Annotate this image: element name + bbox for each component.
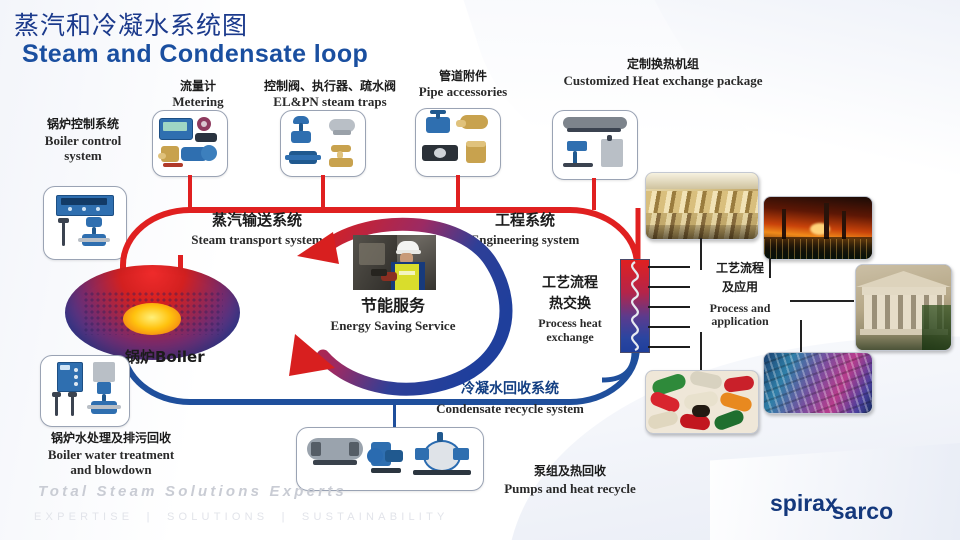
equipment-pictogram-metering [153,111,227,176]
equipment-pictogram-boiler-control [44,187,126,259]
connector-metering-to-loop [188,175,192,208]
photo-institution [855,264,952,351]
label-process-heat-exchange: 工艺流程 热交换 Process heat exchange [520,276,620,344]
label-pumps: 泵组及热回收 Pumps and heat recycle [490,465,650,497]
photo-brewery-cans [645,172,759,240]
equipment-box-pumps[interactable] [296,427,484,491]
equipment-box-metering[interactable] [152,110,228,177]
connector-hx-package-to-loop [592,178,596,210]
equipment-box-heat-exchange-package[interactable] [552,110,638,180]
label-steam-traps: 控制阀、执行器、疏水阀 EL&PN steam traps [250,80,410,110]
label-boiler-text: 锅炉Boiler [125,349,235,366]
connector-to-refinery [769,258,771,278]
connector-to-brewery [700,238,702,270]
spirax-sarco-logo[interactable]: spiraxsarco [770,490,893,517]
label-process-heat-cn-1: 工艺流程 [520,276,620,292]
page-title-english: Steam and Condensate loop [22,40,368,69]
photo-refinery-sunset [763,196,873,260]
logo-text-sarco: sarco [832,498,893,525]
boiler-flame [123,303,181,335]
footer-pillar-expertise: EXPERTISE [34,511,133,523]
equipment-pictogram-steam-traps [281,111,365,176]
footer-pillar-separator-1: | [141,511,160,523]
boiler-vessel [65,265,240,360]
footer-pillar-separator-2: | [276,511,295,523]
label-water-treat-en-2: and blowdown [16,463,206,478]
page-title-chinese: 蒸汽和冷凝水系统图 [14,6,248,42]
logo-text-spirax: spirax [770,490,838,516]
heat-exchanger-coil [621,260,649,352]
equipment-pictogram-hx-package [553,111,637,179]
label-boiler-control-en-1: Boiler control [18,134,148,149]
label-hx-pkg-cn: 定制换热机组 [543,58,783,71]
photo-engineer [353,235,436,290]
label-process-app-en-2: application [690,315,790,328]
label-water-treatment: 锅炉水处理及排污回收 Boiler water treatment and bl… [16,432,206,478]
label-hx-pkg-en: Customized Heat exchange package [543,74,783,89]
label-heat-exchange-package: 定制换热机组 Customized Heat exchange package [543,58,783,89]
label-process-app-cn-2: 及应用 [690,281,790,294]
equipment-box-boiler-control[interactable] [43,186,127,260]
label-process-app-cn-1: 工艺流程 [690,262,790,275]
label-water-treat-cn: 锅炉水处理及排污回收 [16,432,206,445]
connector-to-textiles [800,320,802,352]
equipment-box-water-treatment[interactable] [40,355,130,427]
label-process-heat-en-1: Process heat [520,317,620,330]
label-pipe-accessories: 管道附件 Pipe accessories [398,70,528,100]
label-boiler-control-en-2: system [18,149,148,164]
connector-to-pharma [700,332,702,370]
label-process-application: 工艺流程 及应用 Process and application [690,262,790,329]
heat-exchanger [620,259,650,353]
footer-pillars: EXPERTISE | SOLUTIONS | SUSTAINABILITY [34,511,449,523]
equipment-pictogram-pumps [297,428,483,490]
slide-canvas: 蒸汽和冷凝水系统图 Steam and Condensate loop 锅炉控制… [0,0,960,540]
label-pipe-en: Pipe accessories [398,85,528,100]
equipment-pictogram-pipe-accessories [416,109,500,176]
equipment-box-pipe-accessories[interactable] [415,108,501,177]
label-boiler-control-cn: 锅炉控制系统 [18,118,148,131]
label-pipe-cn: 管道附件 [398,70,528,83]
equipment-box-steam-traps[interactable] [280,110,366,177]
photo-textiles [763,352,873,414]
label-traps-cn: 控制阀、执行器、疏水阀 [250,80,410,93]
label-pumps-cn: 泵组及热回收 [490,465,650,478]
label-metering-en: Metering [148,95,248,110]
connector-pipe-to-loop [456,175,460,208]
footer-pillar-solutions: SOLUTIONS [167,511,268,523]
photo-pharmaceutical [645,370,759,434]
equipment-pictogram-water-treatment [41,356,129,426]
footer-tagline: Total Steam Solutions Experts [38,483,347,500]
label-process-heat-cn-2: 热交换 [520,297,620,313]
label-process-heat-en-2: exchange [520,331,620,344]
label-boiler: 锅炉Boiler [125,349,235,366]
label-traps-en: EL&PN steam traps [250,95,410,110]
footer-pillar-sustainability: SUSTAINABILITY [302,511,449,523]
connector-condensate-to-pumps [393,400,396,428]
label-pumps-en: Pumps and heat recycle [490,482,650,497]
connector-traps-to-loop [321,175,325,208]
label-boiler-control-system: 锅炉控制系统 Boiler control system [18,118,148,164]
connector-to-institution [790,300,854,302]
label-metering: 流量计 Metering [148,80,248,110]
label-water-treat-en-1: Boiler water treatment [16,448,206,463]
label-process-app-en-1: Process and [690,302,790,315]
label-metering-cn: 流量计 [148,80,248,93]
